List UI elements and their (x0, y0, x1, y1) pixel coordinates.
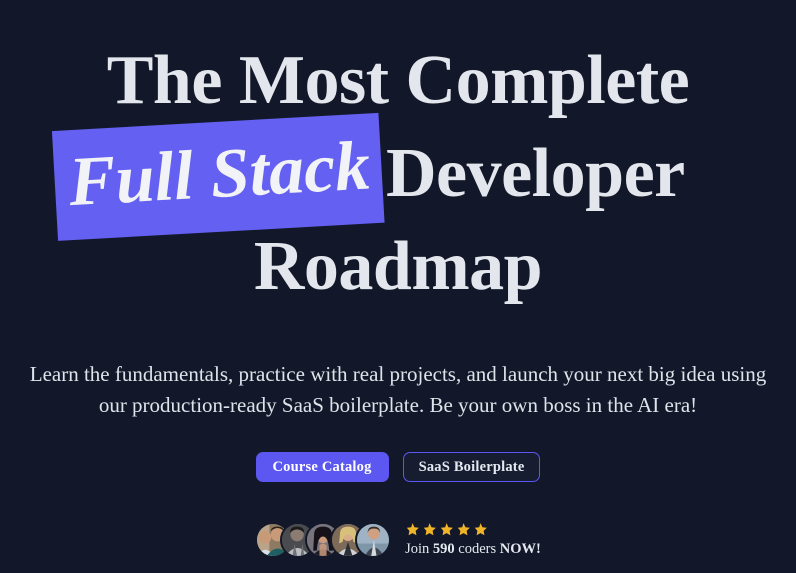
headline-word-developer: Developer (386, 127, 685, 220)
social-proof: Join 590 coders NOW! (255, 522, 541, 558)
avatar-group (255, 522, 391, 558)
headline-line-1: The Most Complete (0, 34, 796, 127)
cta-button-row: Course Catalog SaaS Boilerplate (256, 452, 541, 482)
avatar (355, 522, 391, 558)
saas-boilerplate-button[interactable]: SaaS Boilerplate (403, 452, 541, 482)
hero-subtitle: Learn the fundamentals, practice with re… (18, 313, 778, 421)
hero-section: The Most Complete Full Stack Developer R… (0, 0, 796, 573)
course-catalog-button[interactable]: Course Catalog (256, 452, 389, 482)
highlight-wrapper: Full Stack (52, 113, 385, 241)
join-prefix: Join (405, 541, 433, 557)
star-icon (439, 522, 454, 537)
join-middle: coders (455, 541, 500, 557)
rating-stars (405, 522, 488, 537)
join-suffix: NOW! (500, 541, 541, 557)
page-title: The Most Complete Full Stack Developer R… (0, 0, 796, 313)
headline-line-2: Full Stack Developer (0, 127, 796, 220)
star-icon (422, 522, 437, 537)
star-icon (456, 522, 471, 537)
join-count: 590 (433, 541, 455, 557)
star-icon (405, 522, 420, 537)
join-count-label: Join 590 coders NOW! (405, 540, 541, 558)
avatar-photo-5 (357, 524, 389, 556)
proof-text: Join 590 coders NOW! (405, 522, 541, 558)
star-icon (473, 522, 488, 537)
headline-highlight-full-stack: Full Stack (52, 113, 385, 241)
